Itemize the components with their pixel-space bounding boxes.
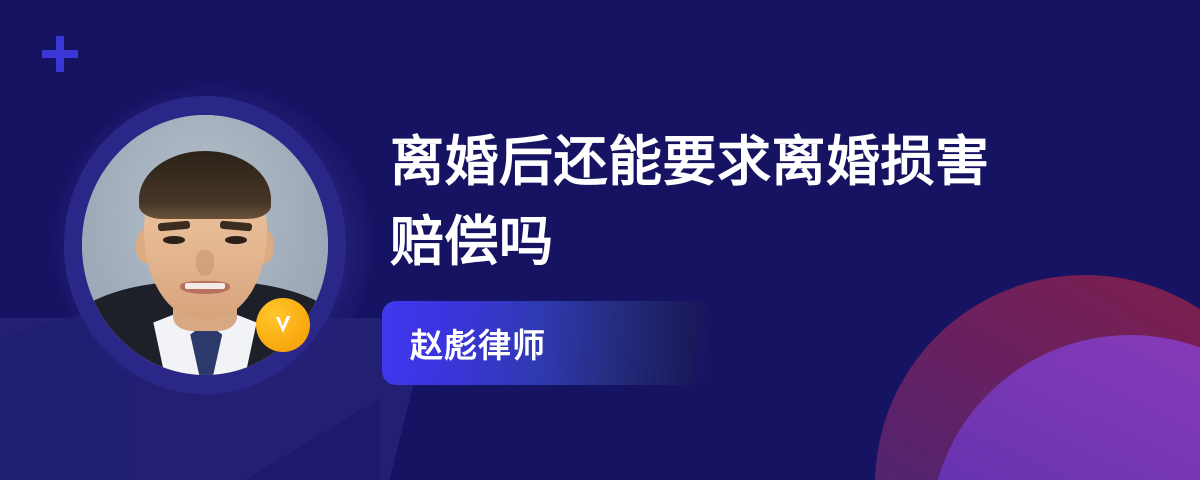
verified-badge-icon bbox=[256, 298, 310, 352]
portrait-teeth bbox=[185, 283, 224, 289]
avatar bbox=[64, 96, 346, 394]
plus-icon-vertical-bar bbox=[56, 36, 64, 72]
portrait-eye-left bbox=[163, 236, 185, 244]
plus-icon bbox=[40, 34, 80, 74]
portrait-nose bbox=[196, 250, 213, 276]
page-title: 离婚后还能要求离婚损害 赔偿吗 bbox=[390, 122, 1090, 282]
banner-content: 离婚后还能要求离婚损害 赔偿吗 bbox=[390, 122, 1090, 282]
lawyer-name-button[interactable]: 赵彪律师 bbox=[382, 301, 710, 385]
portrait-eye-right bbox=[225, 236, 247, 244]
lawyer-article-banner: 离婚后还能要求离婚损害 赔偿吗 赵彪律师 bbox=[0, 0, 1200, 480]
